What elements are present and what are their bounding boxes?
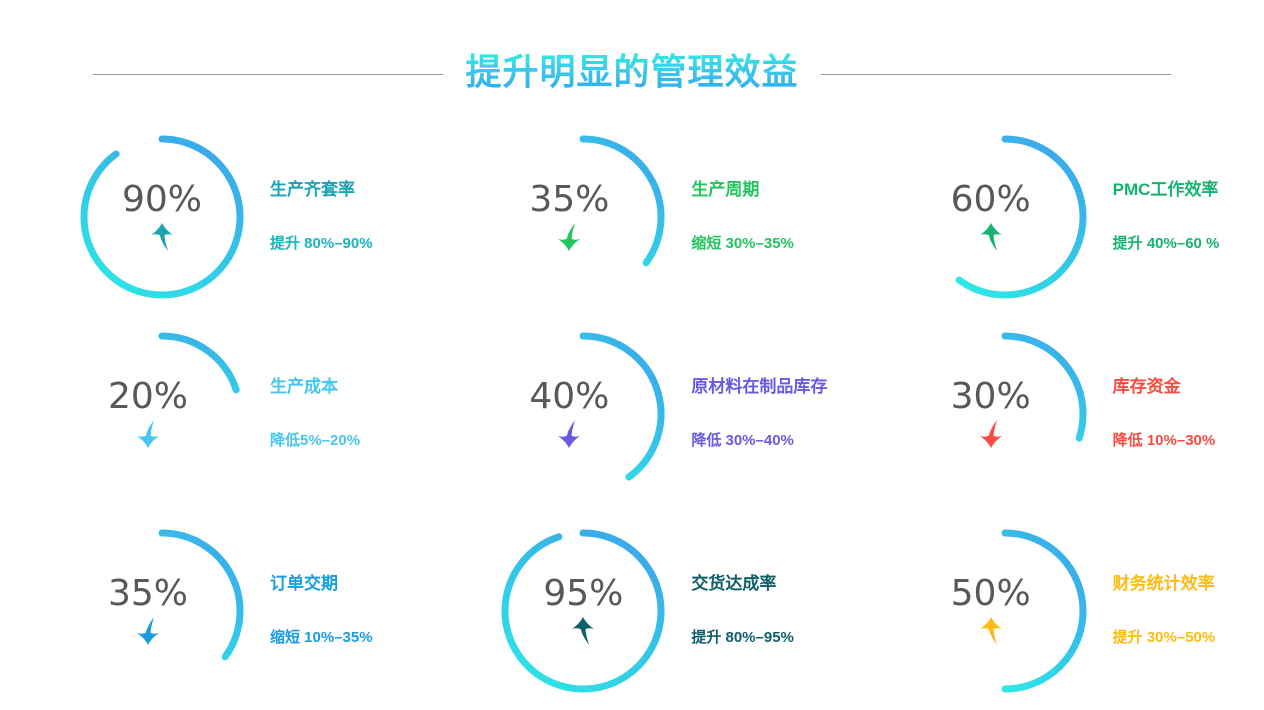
metrics-grid: 90% 生产齐套率 提升 80%–90% 35%	[0, 118, 1264, 710]
metric-subtext: 缩短 10%–35%	[270, 629, 373, 647]
metric-subtext: 缩短 30%–35%	[691, 235, 794, 253]
gauge-value: 50%	[951, 576, 1031, 612]
metric-cell: 60% PMC工作效率 提升 40%–60 %	[843, 118, 1264, 315]
metric-texts: PMC工作效率 提升 40%–60 %	[1113, 180, 1220, 252]
arrow-down-icon	[135, 616, 161, 646]
metric-subtext: 提升 80%–90%	[270, 235, 373, 253]
metric-subtext: 提升 30%–50%	[1113, 629, 1216, 647]
metric-label: PMC工作效率	[1113, 180, 1219, 200]
metric-texts: 生产成本 降低5%–20%	[270, 377, 360, 449]
arrow-up-icon	[570, 616, 596, 646]
metric-label: 交货达成率	[691, 574, 776, 594]
gauge: 20%	[72, 324, 252, 504]
gauge: 95%	[493, 521, 673, 701]
metric-subtext: 降低 10%–30%	[1113, 432, 1216, 450]
gauge: 40%	[493, 324, 673, 504]
gauge-center: 35%	[58, 521, 238, 701]
metric-label: 原材料在制品库存	[691, 377, 827, 397]
gauge: 90%	[72, 127, 252, 307]
arrow-up-icon	[149, 222, 175, 252]
metric-label: 生产齐套率	[270, 180, 355, 200]
metric-cell: 50% 财务统计效率 提升 30%–50%	[843, 512, 1264, 709]
gauge: 35%	[493, 127, 673, 307]
gauge: 50%	[915, 521, 1095, 701]
metric-texts: 生产齐套率 提升 80%–90%	[270, 180, 373, 252]
metric-subtext: 降低 30%–40%	[691, 432, 794, 450]
metric-cell: 40% 原材料在制品库存 降低 30%–40%	[421, 315, 842, 512]
gauge-value: 35%	[108, 576, 188, 612]
metric-cell: 35% 生产周期 缩短 30%–35%	[421, 118, 842, 315]
arrow-up-icon	[978, 616, 1004, 646]
divider-right-line	[821, 74, 1171, 75]
arrow-down-icon	[135, 419, 161, 449]
gauge-center: 35%	[479, 127, 659, 307]
arrow-down-icon	[978, 419, 1004, 449]
gauge-center: 40%	[479, 324, 659, 504]
gauge-center: 30%	[901, 324, 1081, 504]
gauge-value: 20%	[108, 379, 188, 415]
slide-canvas: 提升明显的管理效益 90% 生产齐套率 提	[0, 0, 1264, 710]
gauge-center: 50%	[901, 521, 1081, 701]
gauge: 60%	[915, 127, 1095, 307]
page-title: 提升明显的管理效益	[443, 50, 820, 93]
arrow-down-icon	[556, 222, 582, 252]
metric-label: 订单交期	[270, 574, 338, 594]
metric-cell: 90% 生产齐套率 提升 80%–90%	[0, 118, 421, 315]
metric-subtext: 提升 40%–60 %	[1113, 235, 1220, 253]
metric-label: 生产成本	[270, 377, 338, 397]
metric-subtext: 降低5%–20%	[270, 432, 360, 450]
gauge-center: 95%	[493, 521, 673, 701]
metric-cell: 95% 交货达成率 提升 80%–95%	[421, 512, 842, 709]
metric-subtext: 提升 80%–95%	[691, 629, 794, 647]
gauge: 30%	[915, 324, 1095, 504]
metric-texts: 库存资金 降低 10%–30%	[1113, 377, 1216, 449]
gauge-value: 60%	[951, 182, 1031, 218]
gauge-center: 90%	[72, 127, 252, 307]
arrow-up-icon	[978, 222, 1004, 252]
gauge-value: 90%	[122, 182, 202, 218]
gauge: 35%	[72, 521, 252, 701]
gauge-center: 20%	[58, 324, 238, 504]
metric-texts: 财务统计效率 提升 30%–50%	[1113, 574, 1216, 646]
metric-label: 库存资金	[1113, 377, 1181, 397]
divider-left-line	[93, 74, 443, 75]
gauge-center: 60%	[901, 127, 1081, 307]
metric-label: 生产周期	[691, 180, 759, 200]
gauge-value: 30%	[951, 379, 1031, 415]
metric-texts: 原材料在制品库存 降低 30%–40%	[691, 377, 827, 449]
gauge-value: 40%	[529, 379, 609, 415]
gauge-value: 35%	[529, 182, 609, 218]
gauge-value: 95%	[543, 576, 623, 612]
metric-texts: 订单交期 缩短 10%–35%	[270, 574, 373, 646]
metric-cell: 20% 生产成本 降低5%–20%	[0, 315, 421, 512]
metric-label: 财务统计效率	[1113, 574, 1215, 594]
metric-cell: 30% 库存资金 降低 10%–30%	[843, 315, 1264, 512]
metric-texts: 生产周期 缩短 30%–35%	[691, 180, 794, 252]
page-header: 提升明显的管理效益	[0, 40, 1264, 104]
metric-cell: 35% 订单交期 缩短 10%–35%	[0, 512, 421, 709]
arrow-down-icon	[556, 419, 582, 449]
metric-texts: 交货达成率 提升 80%–95%	[691, 574, 794, 646]
